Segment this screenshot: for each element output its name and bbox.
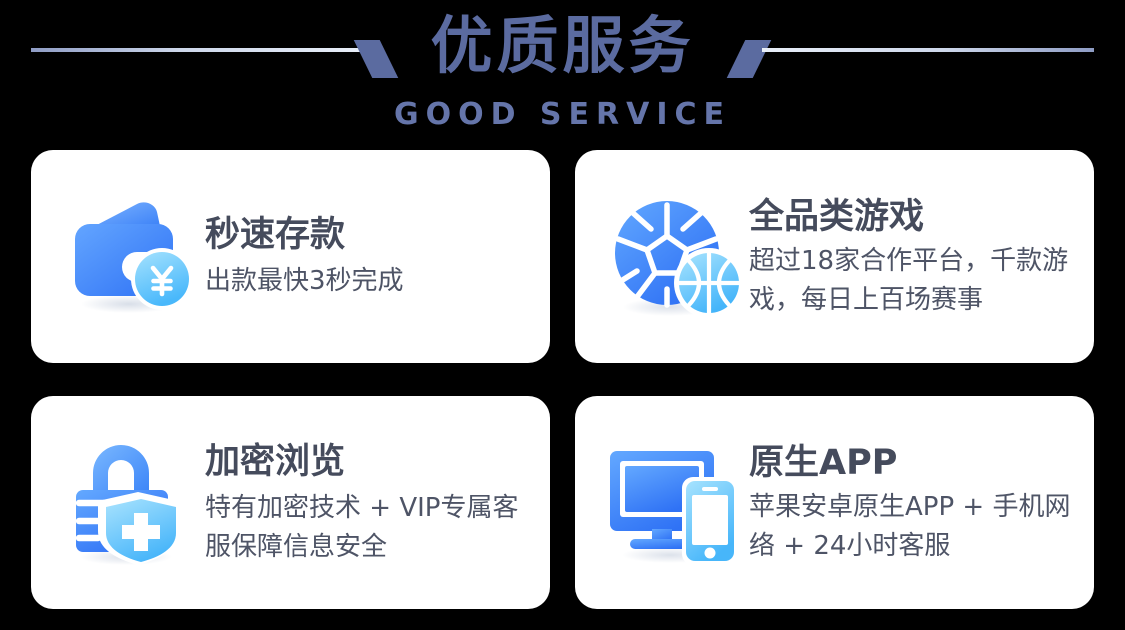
feature-card-games[interactable]: 全品类游戏 超过18家合作平台，千款游戏，每日上百场赛事 <box>575 150 1094 363</box>
page-subtitle: GOOD SERVICE <box>0 98 1125 132</box>
card-subtitle: 苹果安卓原生APP + 手机网络 + 24小时客服 <box>749 488 1078 566</box>
card-title: 原生APP <box>749 440 1078 486</box>
feature-card-native-app[interactable]: 原生APP 苹果安卓原生APP + 手机网络 + 24小时客服 <box>575 396 1094 609</box>
card-text: 秒速存款 出款最快3秒完成 <box>205 212 420 301</box>
card-title: 全品类游戏 <box>749 194 1078 240</box>
card-title: 秒速存款 <box>205 212 404 258</box>
feature-card-grid: 秒速存款 出款最快3秒完成 <box>31 150 1094 609</box>
feature-card-encryption[interactable]: 加密浏览 特有加密技术 + VIP专属客服保障信息安全 <box>31 396 550 609</box>
card-text: 加密浏览 特有加密技术 + VIP专属客服保障信息安全 <box>205 439 550 567</box>
card-subtitle: 超过18家合作平台，千款游戏，每日上百场赛事 <box>749 242 1078 320</box>
feature-card-deposit[interactable]: 秒速存款 出款最快3秒完成 <box>31 150 550 363</box>
header: 优质服务 GOOD SERVICE <box>0 0 1125 145</box>
monitor-phone-icon <box>601 429 749 577</box>
page-title: 优质服务 <box>0 7 1125 85</box>
card-subtitle: 出款最快3秒完成 <box>205 262 404 301</box>
wallet-coin-icon <box>57 183 205 331</box>
promo-banner: 优质服务 GOOD SERVICE <box>0 0 1125 630</box>
card-text: 全品类游戏 超过18家合作平台，千款游戏，每日上百场赛事 <box>749 194 1094 320</box>
card-text: 原生APP 苹果安卓原生APP + 手机网络 + 24小时客服 <box>749 440 1094 566</box>
card-title: 加密浏览 <box>205 439 534 485</box>
lock-shield-icon <box>57 429 205 577</box>
soccer-basketball-icon <box>601 183 749 331</box>
card-subtitle: 特有加密技术 + VIP专属客服保障信息安全 <box>205 489 534 567</box>
